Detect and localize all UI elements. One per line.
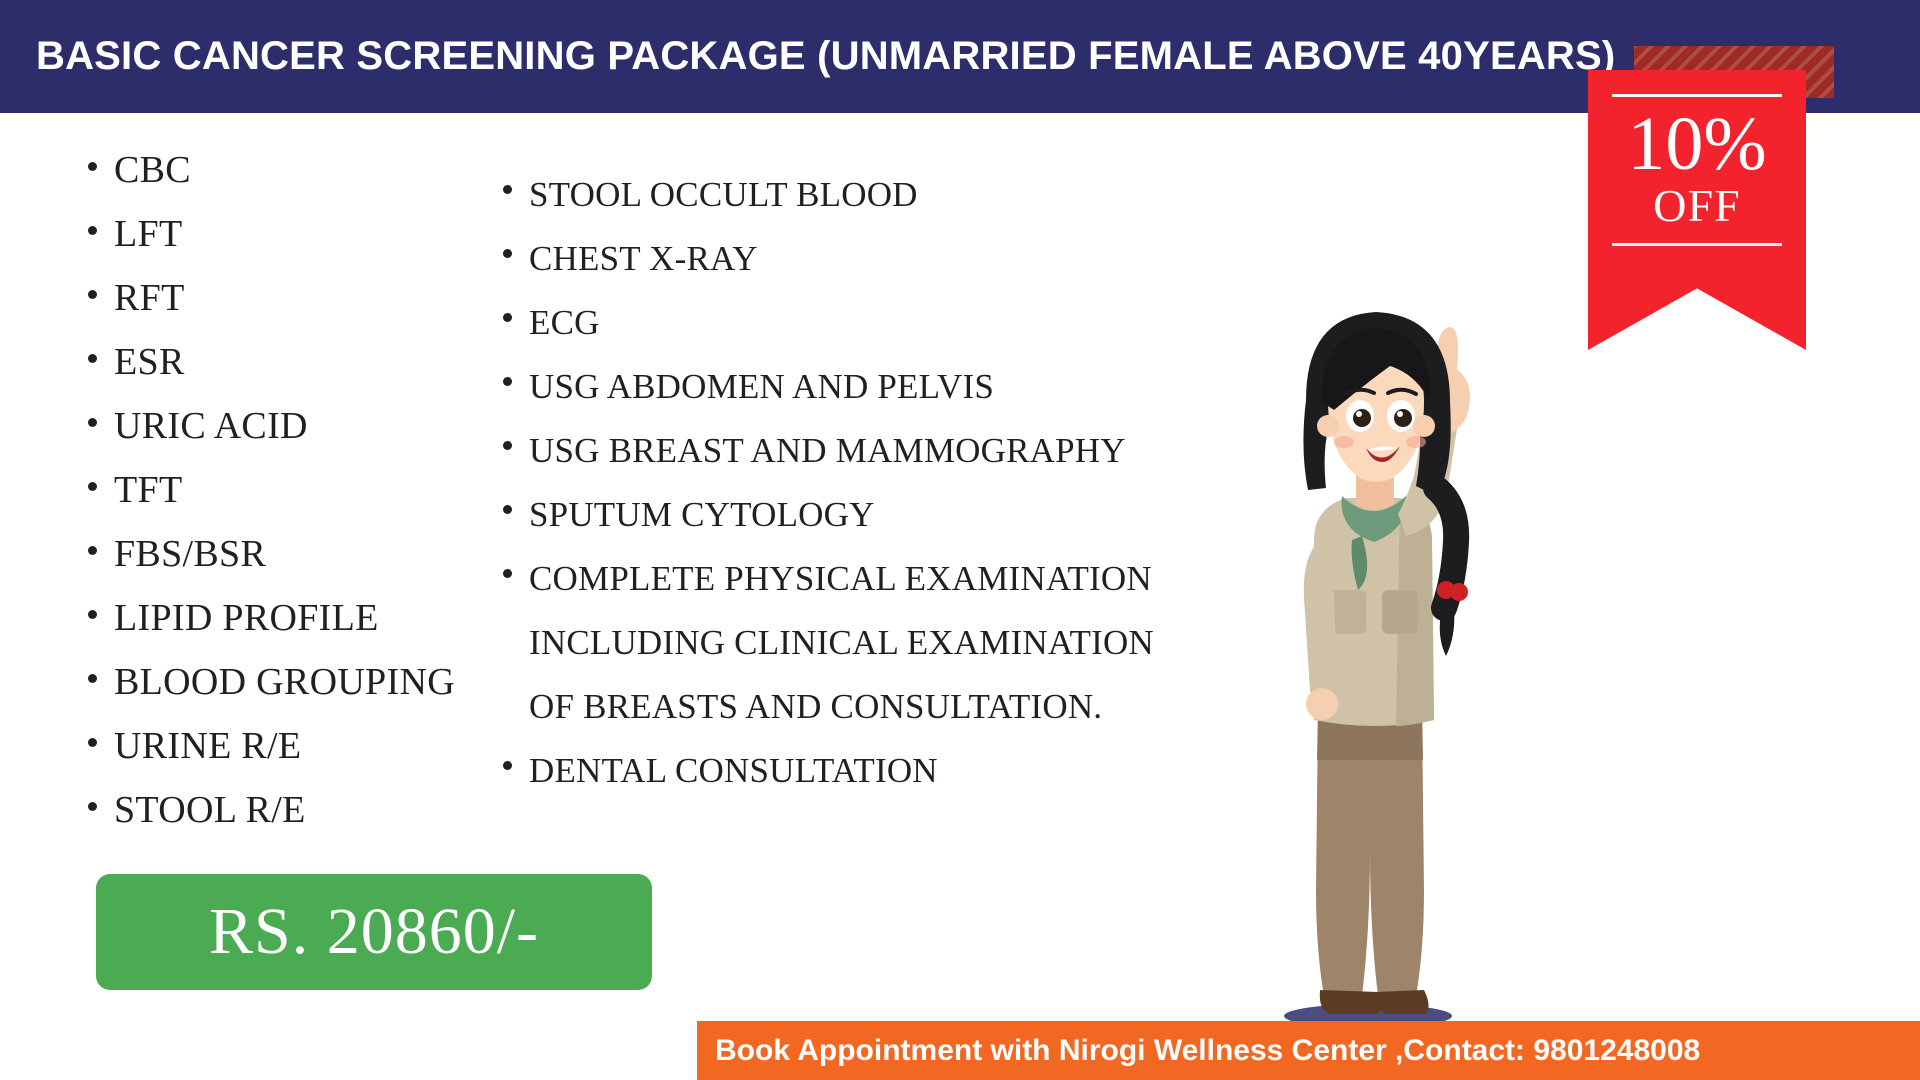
- list-item: URINE R/E: [80, 714, 460, 778]
- list-item: DENTAL CONSULTATION: [495, 739, 1255, 803]
- list-item: ECG: [495, 291, 1255, 355]
- list-item: LIPID PROFILE: [80, 586, 460, 650]
- list-item: COMPLETE PHYSICAL EXAMINATION INCLUDING …: [495, 547, 1255, 739]
- girl-pointing-up-character: [1210, 290, 1540, 1030]
- contact-text: Book Appointment with Nirogi Wellness Ce…: [715, 1034, 1700, 1068]
- list-item: RFT: [80, 266, 460, 330]
- ribbon-divider-bottom: [1612, 243, 1782, 246]
- list-item: LFT: [80, 202, 460, 266]
- list-item: TFT: [80, 458, 460, 522]
- list-item: USG BREAST AND MAMMOGRAPHY: [495, 419, 1255, 483]
- list-item: URIC ACID: [80, 394, 460, 458]
- ribbon-divider-top: [1612, 94, 1782, 97]
- ribbon-body: 10% OFF: [1588, 70, 1806, 350]
- list-item: STOOL OCCULT BLOOD: [495, 163, 1255, 227]
- discount-off-label: OFF: [1588, 183, 1806, 229]
- price-value: RS. 20860/-: [209, 894, 539, 970]
- page-title: BASIC CANCER SCREENING PACKAGE (UNMARRIE…: [36, 34, 1615, 79]
- list-item-line2: INCLUDING CLINICAL EXAMINATION: [529, 611, 1255, 675]
- list-item: ESR: [80, 330, 460, 394]
- list-item: CHEST X-RAY: [495, 227, 1255, 291]
- list-item: SPUTUM CYTOLOGY: [495, 483, 1255, 547]
- discount-ribbon: 10% OFF: [1588, 46, 1834, 376]
- price-badge: RS. 20860/-: [96, 874, 652, 990]
- list-item: CBC: [80, 138, 460, 202]
- discount-percent: 10%: [1588, 103, 1806, 185]
- list-item: STOOL R/E: [80, 778, 460, 842]
- list-item: BLOOD GROUPING: [80, 650, 460, 714]
- footer-banner: Book Appointment with Nirogi Wellness Ce…: [697, 1021, 1920, 1080]
- tests-left-column: CBC LFT RFT ESR URIC ACID TFT FBS/BSR LI…: [80, 138, 460, 842]
- list-item: USG ABDOMEN AND PELVIS: [495, 355, 1255, 419]
- list-item-line3: OF BREASTS AND CONSULTATION.: [529, 675, 1255, 739]
- list-item-line1: COMPLETE PHYSICAL EXAMINATION: [529, 547, 1255, 611]
- list-item: FBS/BSR: [80, 522, 460, 586]
- tests-right-column: STOOL OCCULT BLOOD CHEST X-RAY ECG USG A…: [495, 163, 1255, 803]
